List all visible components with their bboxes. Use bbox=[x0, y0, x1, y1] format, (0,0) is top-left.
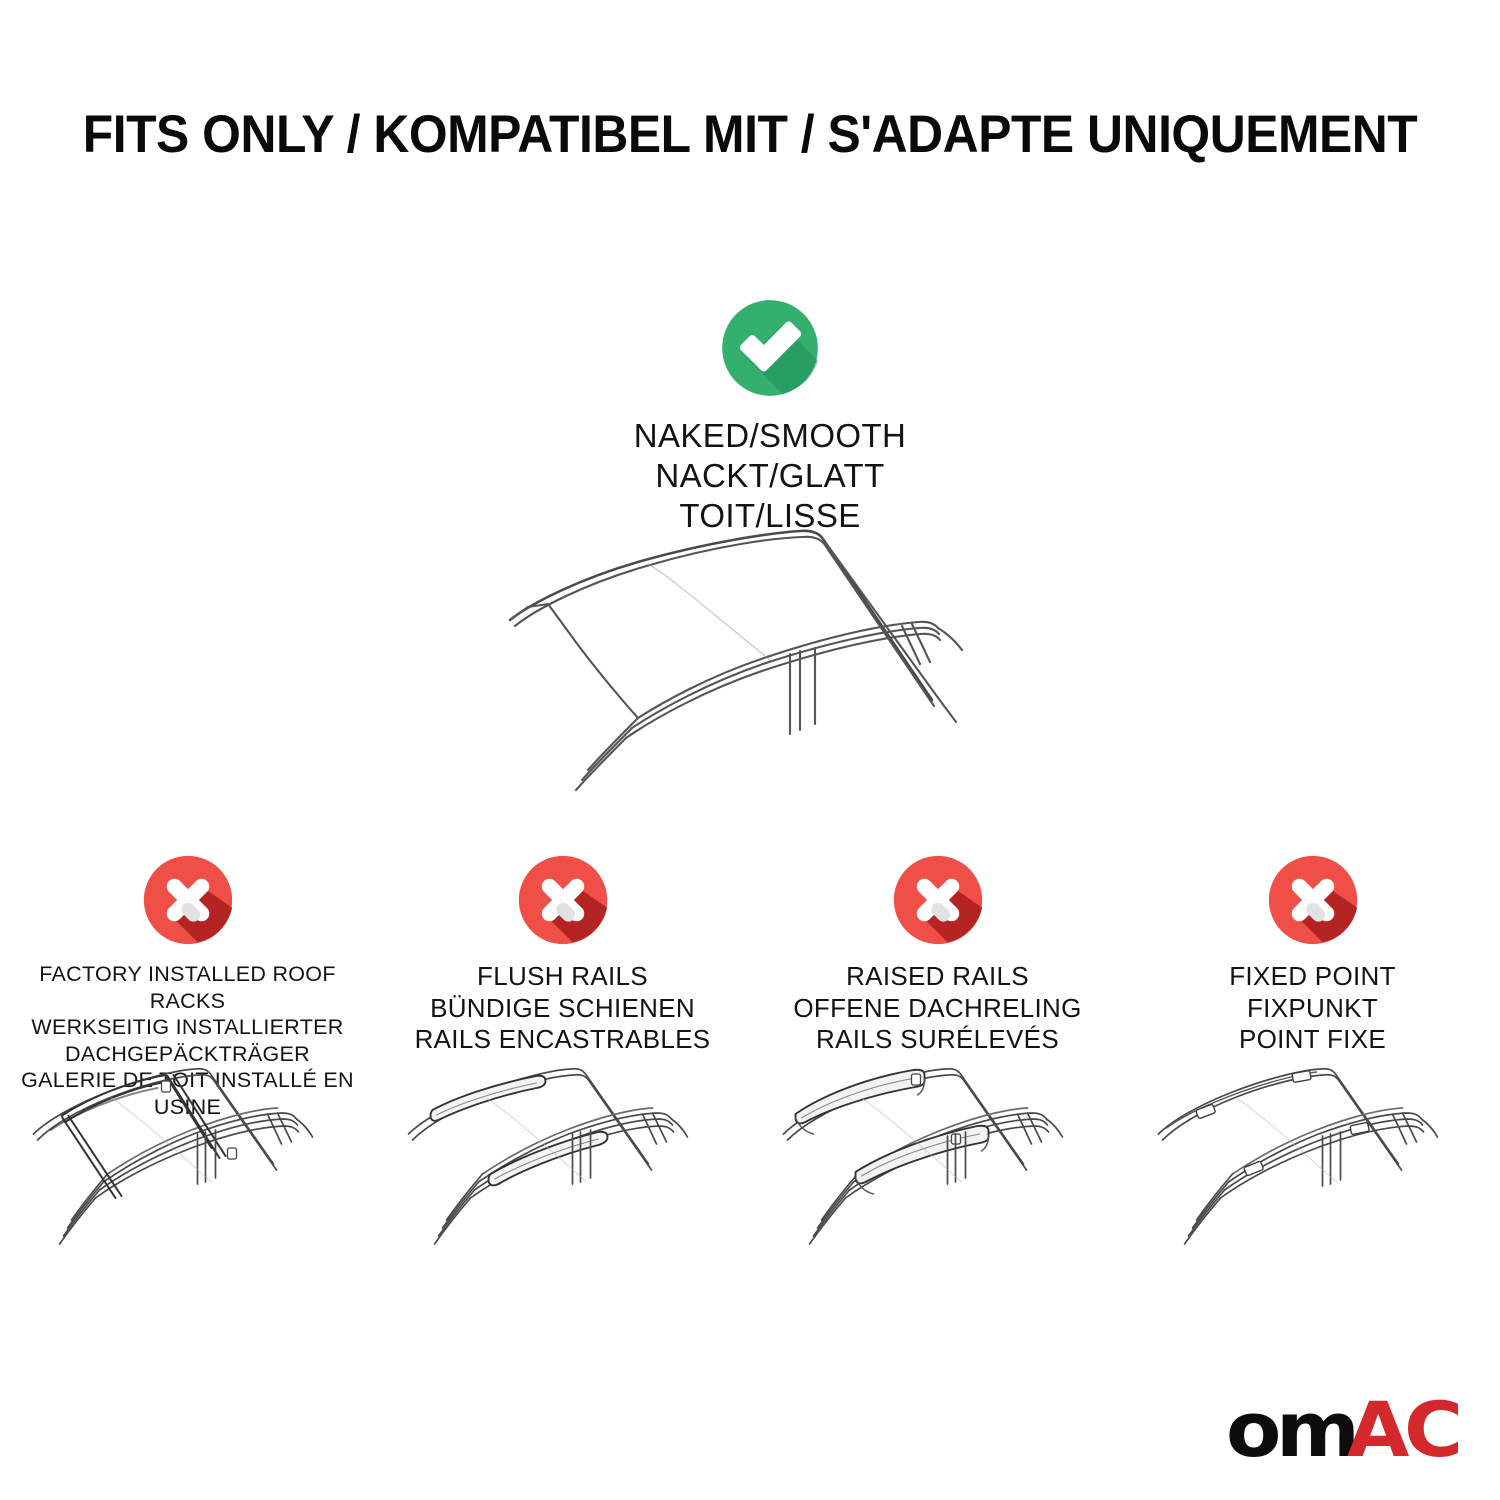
omac-logo-ac: AC bbox=[1347, 1392, 1458, 1468]
omac-logo-om: om bbox=[1226, 1392, 1355, 1468]
denied-labels-raised-rails: RAISED RAILS OFFENE DACHRELING RAILS SUR… bbox=[793, 961, 1081, 1056]
denied-column-fixed-point: FIXED POINT FIXPUNKT POINT FIXE bbox=[1125, 852, 1500, 1322]
check-circle-icon bbox=[718, 296, 822, 400]
denied-roof-types-row: FACTORY INSTALLED ROOF RACKS WERKSEITIG … bbox=[0, 852, 1500, 1322]
car-roof-flush-rails-illustration bbox=[390, 1048, 735, 1298]
denied-label-line: FLUSH RAILS bbox=[415, 961, 711, 993]
denied-labels-fixed-point: FIXED POINT FIXPUNKT POINT FIXE bbox=[1229, 961, 1396, 1056]
page-title: FITS ONLY / KOMPATIBEL MIT / S'ADAPTE UN… bbox=[45, 104, 1455, 165]
approved-label-en: NAKED/SMOOTH bbox=[634, 416, 907, 456]
omac-logo: om AC bbox=[1226, 1392, 1452, 1468]
car-roof-raised-rails-illustration bbox=[765, 1048, 1110, 1298]
car-roof-naked-smooth-illustration bbox=[470, 512, 1030, 812]
denied-labels-flush-rails: FLUSH RAILS BÜNDIGE SCHIENEN RAILS ENCAS… bbox=[415, 961, 711, 1056]
denied-column-raised-rails: RAISED RAILS OFFENE DACHRELING RAILS SUR… bbox=[750, 852, 1125, 1322]
x-circle-icon bbox=[140, 852, 236, 948]
car-roof-fixed-point-illustration bbox=[1140, 1048, 1485, 1298]
x-circle-icon bbox=[515, 852, 611, 948]
denied-label-line: WERKSEITIG INSTALLIERTER bbox=[0, 1014, 375, 1041]
denied-label-line: FIXED POINT bbox=[1229, 961, 1396, 993]
denied-column-factory-roof-racks: FACTORY INSTALLED ROOF RACKS WERKSEITIG … bbox=[0, 852, 375, 1322]
denied-label-line: RAISED RAILS bbox=[793, 961, 1081, 993]
denied-label-line: FIXPUNKT bbox=[1229, 993, 1396, 1025]
car-roof-factory-roof-racks-illustration bbox=[15, 1048, 360, 1298]
approved-roof-type-block: NAKED/SMOOTH NACKT/GLATT TOIT/LISSE bbox=[520, 296, 1020, 536]
denied-column-flush-rails: FLUSH RAILS BÜNDIGE SCHIENEN RAILS ENCAS… bbox=[375, 852, 750, 1322]
denied-label-line: BÜNDIGE SCHIENEN bbox=[415, 993, 711, 1025]
denied-label-line: OFFENE DACHRELING bbox=[793, 993, 1081, 1025]
x-circle-icon bbox=[890, 852, 986, 948]
compatibility-infographic: FITS ONLY / KOMPATIBEL MIT / S'ADAPTE UN… bbox=[0, 0, 1500, 1500]
x-circle-icon bbox=[1265, 852, 1361, 948]
approved-label-de: NACKT/GLATT bbox=[634, 456, 907, 496]
denied-label-line: FACTORY INSTALLED ROOF RACKS bbox=[0, 961, 375, 1014]
